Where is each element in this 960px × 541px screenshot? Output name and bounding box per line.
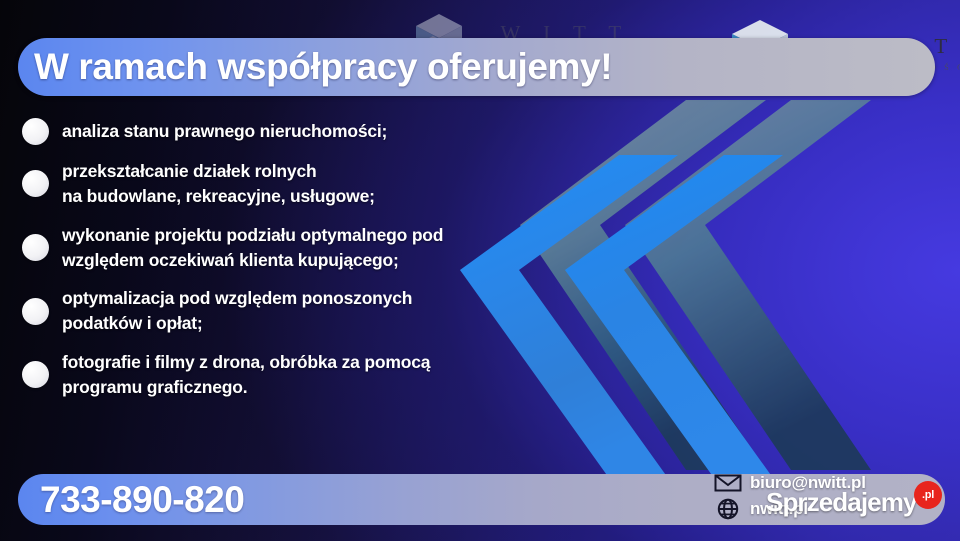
list-item: fotografie i filmy z drona, obróbka za p… (22, 350, 622, 400)
list-item-line: programu graficznego. (62, 375, 430, 400)
banner-canvas: W I T T N I E R U C H O M O Ś C I W I T … (0, 0, 960, 541)
list-item-text: analiza stanu prawnego nieruchomości; (62, 119, 387, 144)
list-item-text: wykonanie projektu podziału optymalnego … (62, 223, 443, 273)
page-title: W ramach współpracy oferujemy! (34, 40, 734, 94)
list-item: analiza stanu prawnego nieruchomości; (22, 118, 622, 145)
list-item-line: względem oczekiwań klienta kupującego; (62, 248, 443, 273)
list-item-line: optymalizacja pod względem ponoszonych (62, 286, 412, 311)
watermark-badge: .pl (914, 481, 942, 509)
globe-icon (714, 498, 742, 520)
list-item-line: analiza stanu prawnego nieruchomości; (62, 119, 387, 144)
list-item-text: przekształcanie działek rolnych na budow… (62, 159, 375, 209)
bullet-dot-icon (22, 170, 49, 197)
bullet-dot-icon (22, 298, 49, 325)
list-item-line: podatków i opłat; (62, 311, 412, 336)
phone-number[interactable]: 733-890-820 (40, 475, 244, 524)
list-item-line: fotografie i filmy z drona, obróbka za p… (62, 350, 430, 375)
bullet-dot-icon (22, 361, 49, 388)
bullet-dot-icon (22, 234, 49, 261)
sprzedajemy-watermark: Sprzedajemy .pl (766, 489, 917, 515)
list-item: optymalizacja pod względem ponoszonych p… (22, 286, 622, 336)
list-item-text: fotografie i filmy z drona, obróbka za p… (62, 350, 430, 400)
bullet-dot-icon (22, 118, 49, 145)
list-item-text: optymalizacja pod względem ponoszonych p… (62, 286, 412, 336)
list-item: przekształcanie działek rolnych na budow… (22, 159, 622, 209)
list-item-line: wykonanie projektu podziału optymalnego … (62, 223, 443, 248)
offer-list: analiza stanu prawnego nieruchomości; pr… (22, 118, 622, 414)
list-item-line: przekształcanie działek rolnych (62, 159, 375, 184)
envelope-icon (714, 472, 742, 494)
list-item: wykonanie projektu podziału optymalnego … (22, 223, 622, 273)
list-item-line: na budowlane, rekreacyjne, usługowe; (62, 184, 375, 209)
watermark-text: Sprzedajemy (766, 489, 917, 515)
